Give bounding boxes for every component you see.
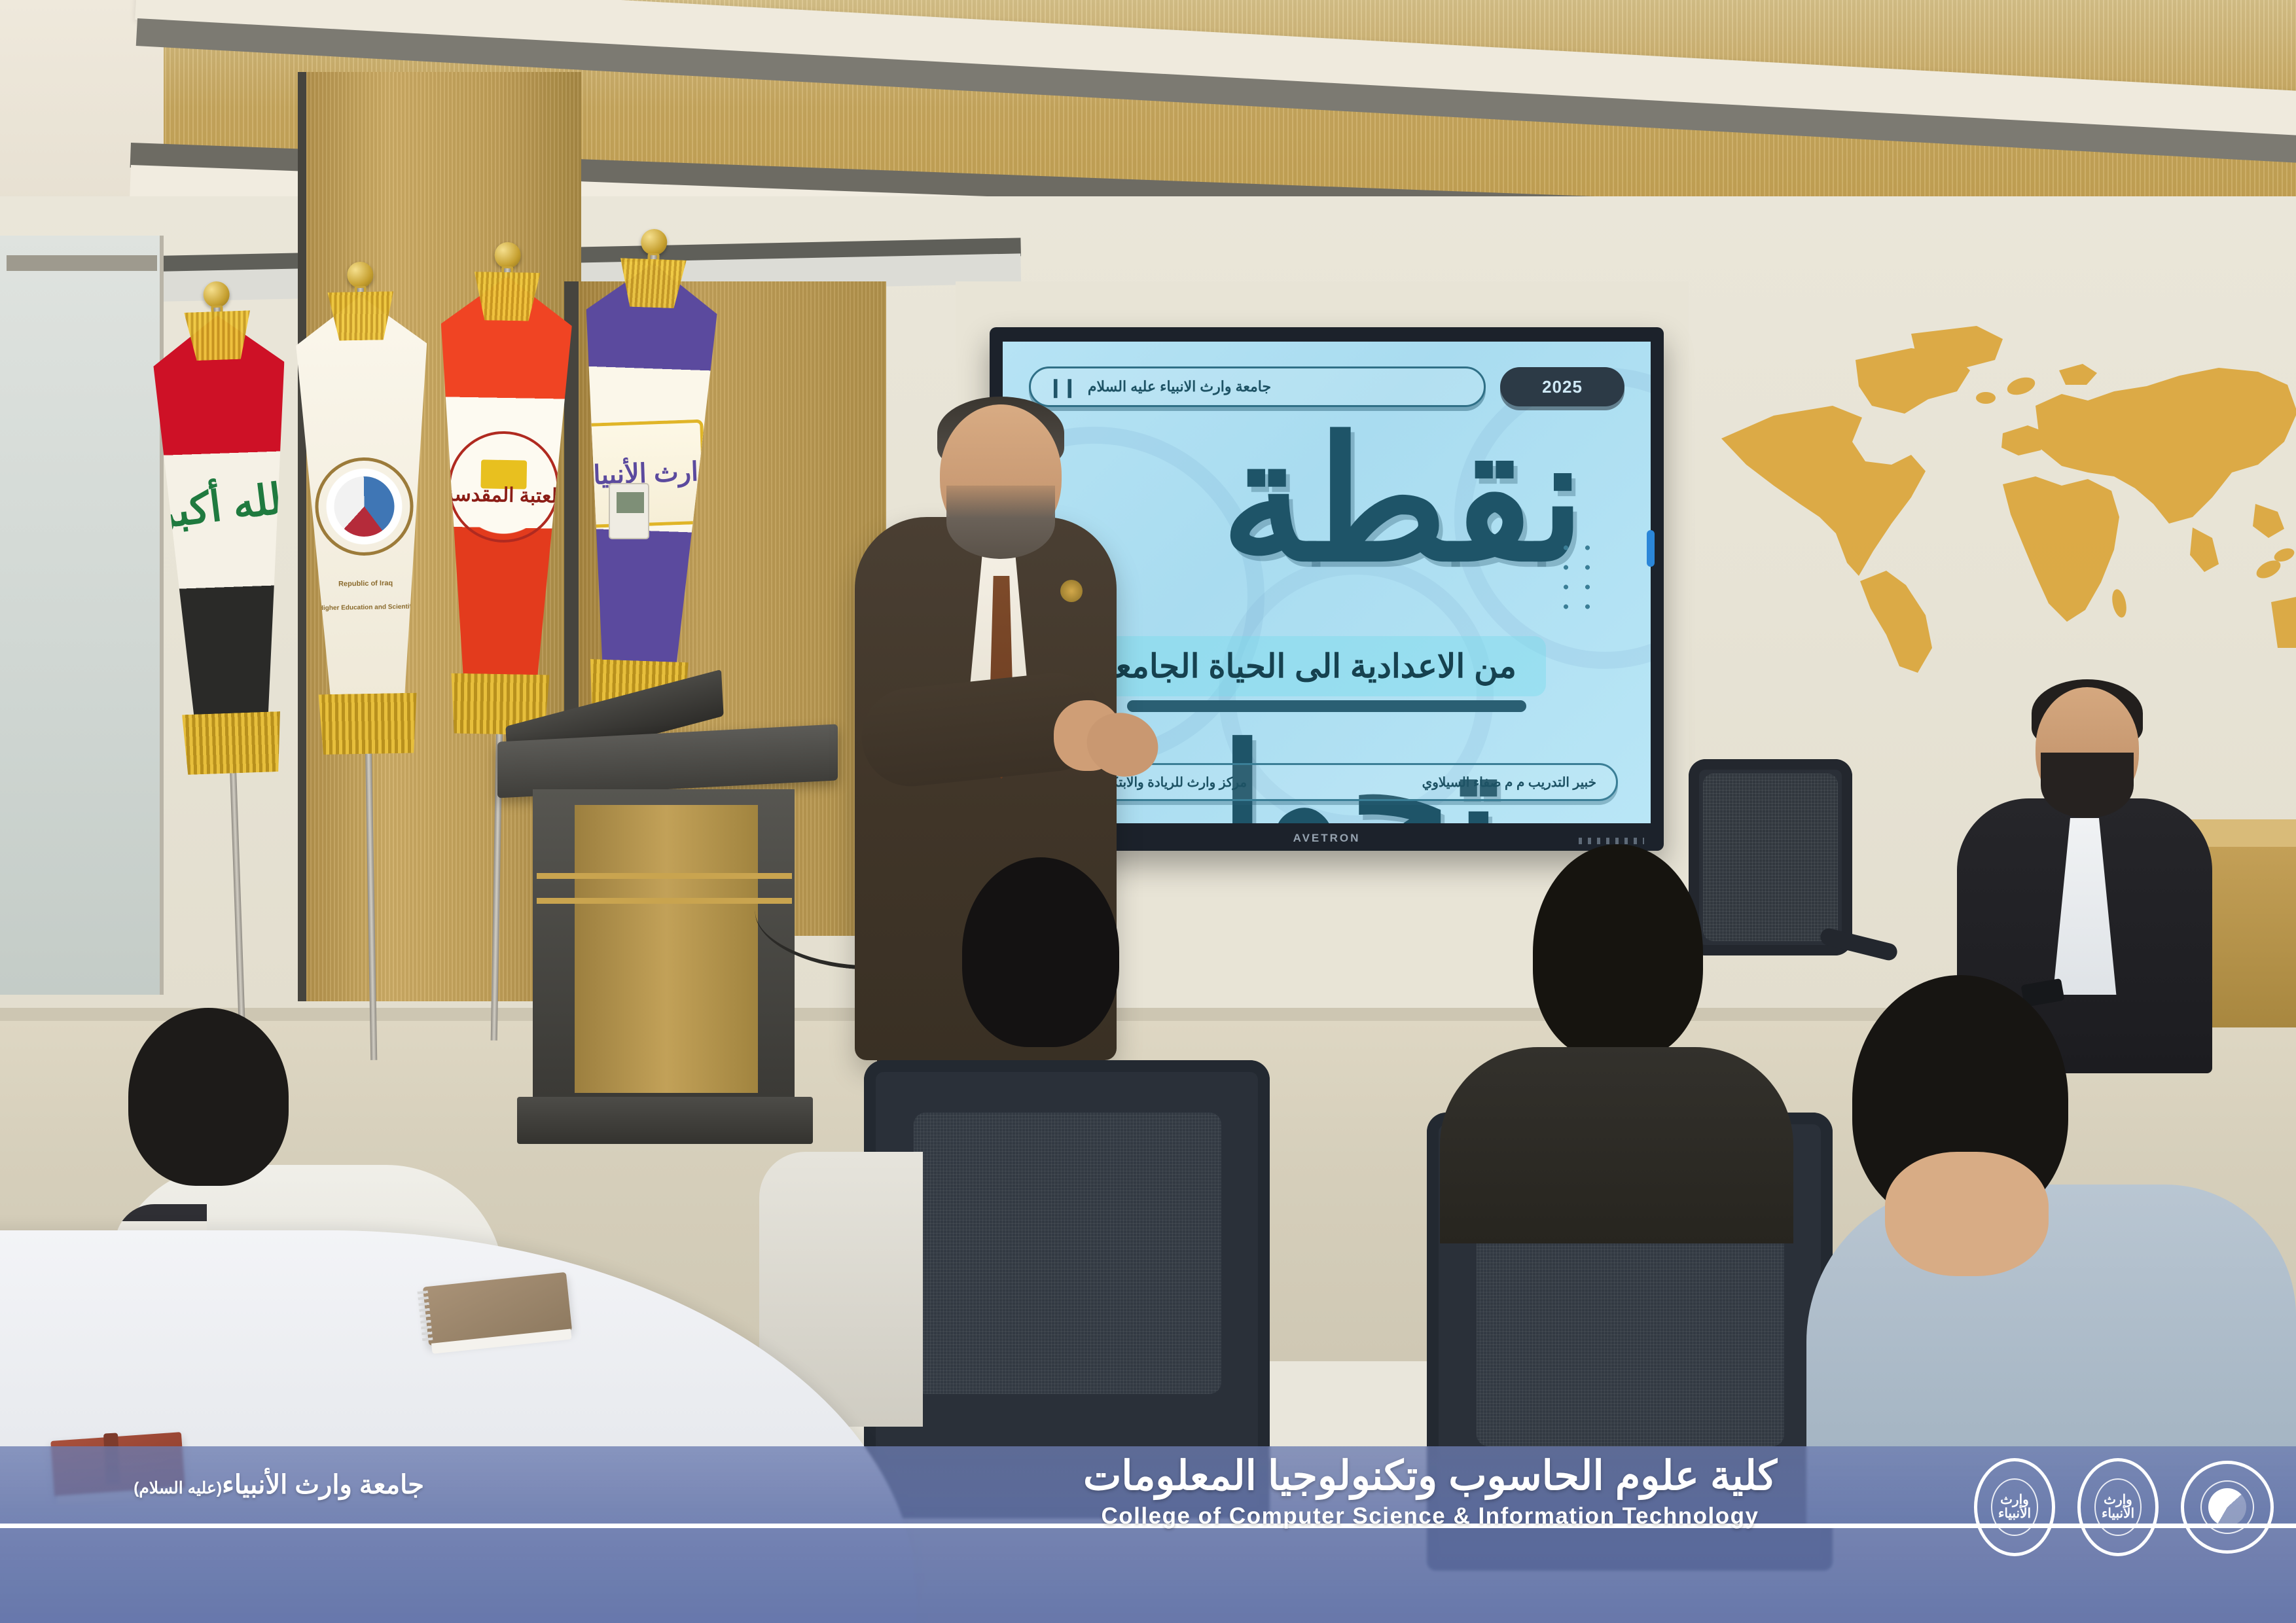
thermostat-display xyxy=(617,492,644,513)
office-chair-right-mesh xyxy=(1703,774,1838,941)
slide-header: ❙❙ جامعة وارث الانبياء عليه السلام 2025 xyxy=(1029,365,1624,408)
slide-header-text: جامعة وارث الانبياء عليه السلام xyxy=(1088,378,1271,395)
slide-title-line1: نقطة xyxy=(1221,420,1585,582)
slide-ribbon-bar xyxy=(1127,700,1526,712)
college-seal-inner: وارث الأنبياء xyxy=(1986,1471,2044,1543)
panelist-beard xyxy=(2041,753,2134,818)
flag-fringe xyxy=(319,693,418,755)
holy-shrine-seal-icon: العتبة المقدسة xyxy=(447,431,560,544)
university-seal-ring xyxy=(2094,1478,2141,1535)
banner-university-name: جامعة وارث الأنبياء(عليه السلام) xyxy=(18,1470,424,1500)
holy-shrine-seal-label: العتبة المقدسة xyxy=(444,483,563,508)
audience-4-neck-face xyxy=(1885,1152,2049,1276)
slide-subtitle-text: من الاعدادية الى الحياة الجامعية xyxy=(1088,647,1516,685)
thermostat-panel[interactable] xyxy=(609,483,649,539)
slide-year-badge: 2025 xyxy=(1500,367,1624,406)
university-seal-logo: وارث الأنبياء xyxy=(2077,1458,2159,1556)
ministry-seal-logo xyxy=(2181,1461,2274,1554)
display-brand-label: AVETRON xyxy=(1293,832,1361,845)
audience-3-head xyxy=(1533,844,1703,1060)
audience-3-shoulders xyxy=(1440,1047,1793,1243)
ministry-seal-ring xyxy=(2200,1480,2254,1534)
quote-icon: ❙❙ xyxy=(1048,376,1076,398)
audience-2-head xyxy=(962,857,1119,1047)
podium-gold-trim-1 xyxy=(537,873,792,879)
college-seal-logo: وارث الأنبياء xyxy=(1974,1458,2055,1556)
podium-base xyxy=(517,1097,813,1144)
slide-footer-right: خبير التدريب م م صفاء السيلاوي xyxy=(1422,774,1596,791)
podium-wood-face xyxy=(575,805,758,1093)
world-map-decal xyxy=(1695,308,2296,674)
left-glass-frame xyxy=(7,255,157,271)
screenshot-stage: الله أكبر Republic of Iraq Ministry of H… xyxy=(0,0,2296,1623)
banner-logo-group: وارث الأنبياء وارث الأنبياء xyxy=(1974,1458,2274,1556)
banner-college-name-english: College of Computer Science & Informatio… xyxy=(1021,1503,1839,1529)
college-seal-ring xyxy=(1991,1478,2037,1535)
bottom-banner: جامعة وارث الأنبياء(عليه السلام) كلية عل… xyxy=(0,1446,2296,1623)
slide-dot-grid-decor xyxy=(1555,538,1598,616)
slide-subtitle-ribbon: من الاعدادية الى الحياة الجامعية xyxy=(1059,636,1546,696)
audience-2-chair-mesh xyxy=(914,1113,1221,1394)
banner-university-name-honorific: (عليه السلام) xyxy=(134,1479,222,1497)
presenter-beard xyxy=(946,486,1055,559)
office-chair-right-back xyxy=(1689,759,1852,955)
banner-college-name-arabic: كلية علوم الحاسوب وتكنولوجيا المعلومات xyxy=(1021,1453,1839,1499)
flag-fringe xyxy=(182,711,282,775)
display-ports xyxy=(1579,838,1644,844)
iraq-flag-script: الله أكبر xyxy=(152,473,296,539)
podium-gold-trim-2 xyxy=(537,898,792,904)
banner-university-name-main: جامعة وارث الأنبياء xyxy=(222,1471,424,1499)
audience-1-head xyxy=(128,1008,289,1186)
ministry-seal-icon xyxy=(314,457,414,557)
slide-header-pill: ❙❙ جامعة وارث الانبياء عليه السلام xyxy=(1029,366,1486,407)
office-chair-right xyxy=(1689,759,1865,1034)
room-background: الله أكبر Republic of Iraq Ministry of H… xyxy=(0,0,2296,1623)
display-power-led xyxy=(1647,530,1655,567)
slide-year-badge-text: 2025 xyxy=(1542,377,1583,397)
presenter-lapel-badge xyxy=(1060,580,1083,602)
ministry-seal-inner xyxy=(2194,1474,2261,1541)
left-glass-partition xyxy=(0,236,164,995)
university-seal-inner: وارث الأنبياء xyxy=(2089,1471,2147,1543)
banner-college-block: كلية علوم الحاسوب وتكنولوجيا المعلومات C… xyxy=(1021,1453,1839,1529)
